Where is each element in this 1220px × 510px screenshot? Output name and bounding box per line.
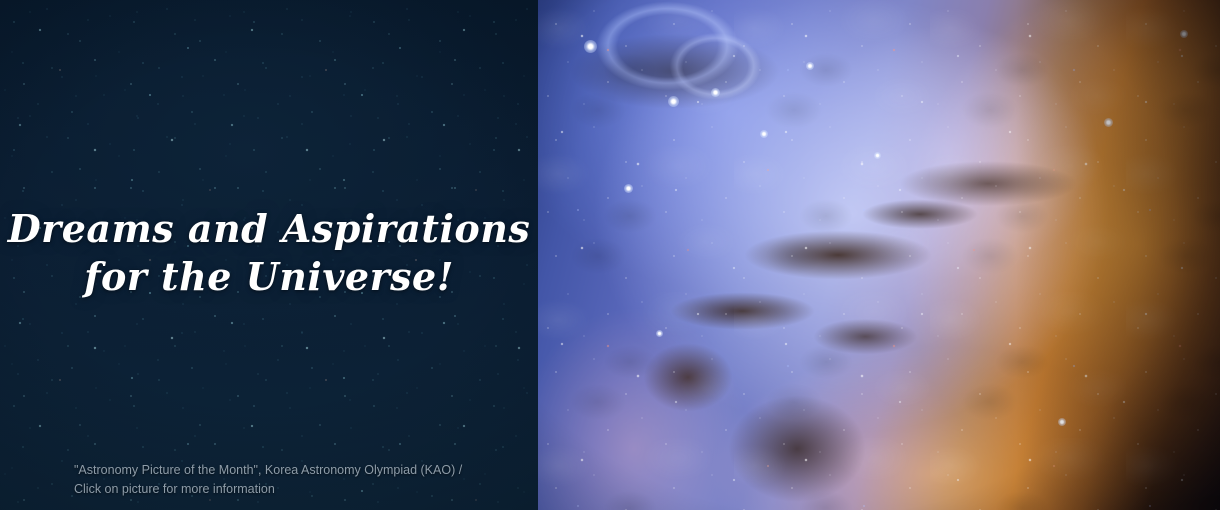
banner-headline: Dreams and Aspirations for the Universe! — [0, 205, 538, 301]
astronomy-banner: Dreams and Aspirations for the Universe!… — [0, 0, 1220, 510]
nebula-image[interactable] — [538, 0, 1220, 510]
text-panel: Dreams and Aspirations for the Universe!… — [0, 0, 538, 510]
nebula-stars-colored — [538, 0, 1220, 510]
banner-caption[interactable]: "Astronomy Picture of the Month", Korea … — [74, 461, 514, 499]
